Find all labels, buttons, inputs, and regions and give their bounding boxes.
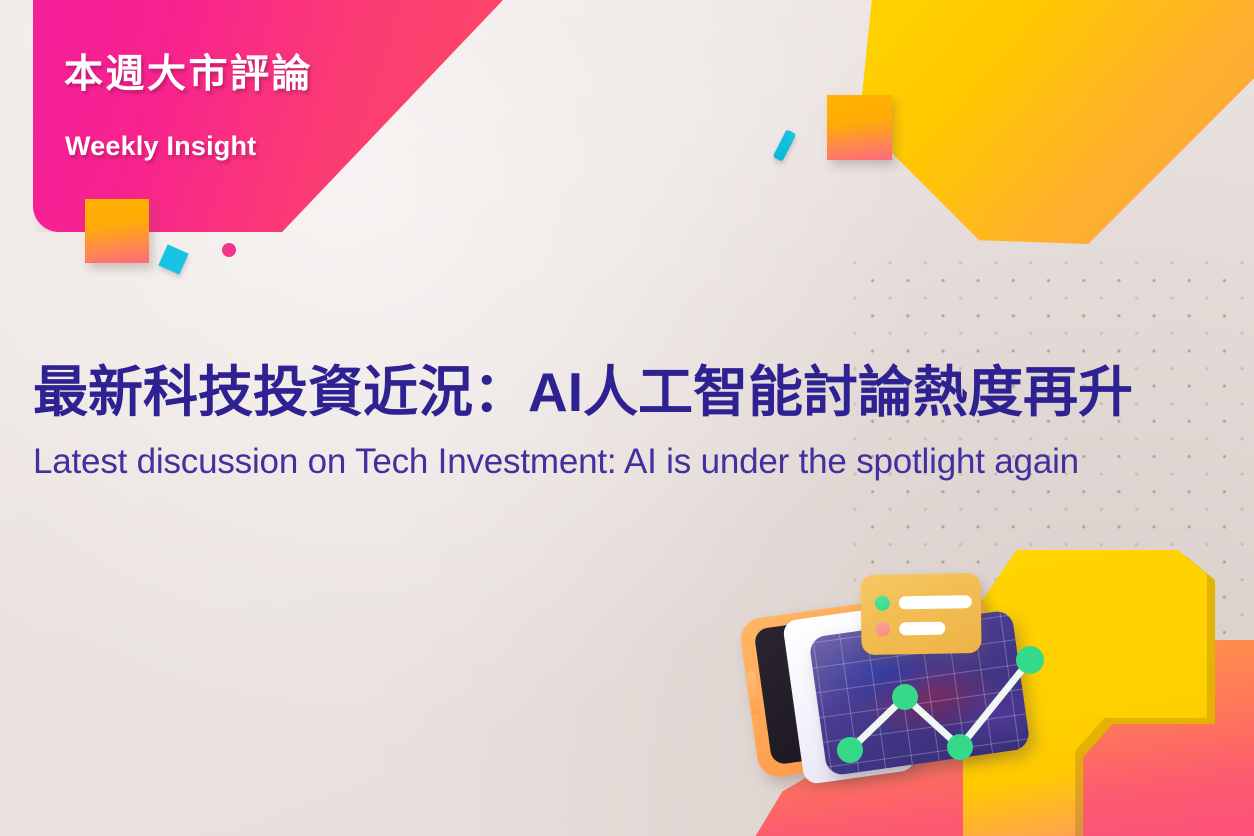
status-dot-pink-icon	[875, 622, 890, 637]
yellow-notification-card	[860, 573, 981, 655]
status-dot-green-icon	[875, 596, 890, 611]
cyan-square-icon	[158, 244, 188, 274]
headline-block: 最新科技投資近況：AI人工智能討論熱度再升 Latest discussion …	[33, 362, 1223, 481]
banner-title-english: Weekly Insight	[65, 133, 256, 160]
chart-point-0	[837, 737, 863, 763]
notification-row	[875, 594, 972, 611]
notification-text-bar	[899, 595, 972, 609]
notification-text-bar	[899, 622, 945, 636]
page-title: 最新科技投資近況：AI人工智能討論熱度再升	[33, 362, 1223, 424]
chart-point-3	[1016, 646, 1044, 674]
chart-line-path	[850, 660, 1030, 750]
device-chart-illustration	[735, 545, 1254, 836]
notification-row	[875, 621, 945, 637]
page-subtitle: Latest discussion on Tech Investment: AI…	[33, 442, 1223, 481]
chart-point-1	[892, 684, 918, 710]
banner-text-group: 本週大市評論 Weekly Insight	[33, 0, 503, 232]
orange-pink-square-icon	[827, 95, 892, 160]
pink-dot-icon	[222, 243, 236, 257]
cyan-sliver-icon	[773, 129, 797, 162]
poster-canvas: 本週大市評論 Weekly Insight 最新科技投資近況：AI人工智能討論熱…	[0, 0, 1254, 836]
banner-orange-square-icon	[85, 199, 149, 263]
chart-point-2	[947, 734, 973, 760]
banner-title-chinese: 本週大市評論	[64, 55, 313, 94]
yellow-orange-beam-icon	[796, 0, 1254, 390]
